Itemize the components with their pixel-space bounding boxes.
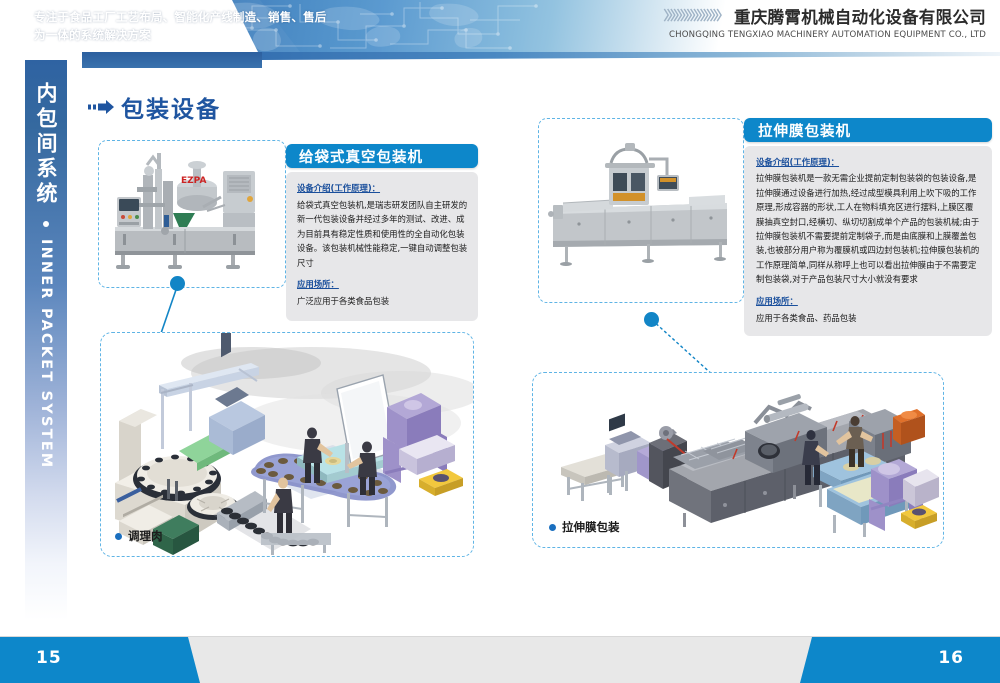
- card-subheading-intro-left: 设备介绍(工作原理)：: [297, 181, 468, 196]
- photo-box-stretch-film-machine: [538, 118, 744, 303]
- card-title-left: 给袋式真空包装机: [299, 146, 423, 167]
- diagram-label-text-left: 调理肉: [128, 528, 163, 544]
- diagram-box-prepared-meat: 调理肉: [100, 332, 474, 557]
- sidebar-title-cn: 内包间系统: [32, 82, 60, 207]
- sidebar-vertical-tab: 内包间系统 INNER PACKET SYSTEM: [25, 60, 67, 620]
- page-number-left: 15: [36, 648, 62, 668]
- page-header: 专注于食品工厂工艺布局、智能化产线制造、销售、售后 为一体的系统解决方案 〉〉〉…: [0, 0, 1000, 60]
- card-subheading-intro-right: 设备介绍(工作原理)：: [756, 155, 981, 169]
- bag-vacuum-packing-machine-photo: EZPA: [99, 141, 285, 287]
- company-name-en: CHONGQING TENGXIAO MACHINERY AUTOMATION …: [663, 30, 986, 40]
- bullet-dot-icon-left: [115, 533, 122, 540]
- connector-dot-left: [170, 276, 185, 291]
- arrow-right-icon: [88, 99, 114, 115]
- footer-left-block: [0, 637, 200, 683]
- page-footer: 15 16: [0, 633, 1000, 683]
- header-underline-tab: [82, 52, 262, 68]
- connector-dot-right: [644, 312, 659, 327]
- bullet-dot-icon-right: [549, 524, 556, 531]
- svg-text:EZPA: EZPA: [181, 176, 206, 186]
- section-title: 包装设备: [88, 90, 221, 124]
- header-tagline-line2: 为一体的系统解决方案: [34, 26, 554, 44]
- card-body-left: 设备介绍(工作原理)： 给袋式真空包装机,是瑞志研发团队自主研发的新一代包装设备…: [286, 172, 478, 321]
- info-card-bag-vacuum-machine: 给袋式真空包装机 设备介绍(工作原理)： 给袋式真空包装机,是瑞志研发团队自主研…: [286, 144, 478, 321]
- company-brand: 〉〉〉〉〉〉〉〉〉〉〉〉〉〉〉〉〉 重庆腾霄机械自动化设备有限公司 CHONGQ…: [663, 9, 986, 40]
- card-subheading-usage-right: 应用场所：: [756, 294, 981, 308]
- section-title-text: 包装设备: [121, 90, 221, 124]
- company-name-cn: 重庆腾霄机械自动化设备有限公司: [734, 9, 986, 27]
- card-text-intro-right: 拉伸膜包装机是一款无需企业提前定制包装袋的包装设备,是拉伸膜通过设备进行加热,经…: [756, 171, 981, 286]
- diagram-label-prepared-meat: 调理肉: [115, 528, 163, 544]
- footer-right-block: [800, 637, 1000, 683]
- prepared-meat-line-illustration: [101, 333, 473, 556]
- diagram-label-stretch-film: 拉伸膜包装: [549, 519, 620, 535]
- photo-box-bag-vacuum-machine: EZPA: [98, 140, 286, 288]
- sidebar-separator-dot-icon: [43, 221, 49, 227]
- header-tagline: 专注于食品工厂工艺布局、智能化产线制造、销售、售后 为一体的系统解决方案: [34, 8, 554, 44]
- diagram-box-stretch-film-packing: 拉伸膜包装: [532, 372, 944, 548]
- header-tagline-line1: 专注于食品工厂工艺布局、智能化产线制造、销售、售后: [34, 8, 554, 26]
- card-title-bar-right: 拉伸膜包装机: [744, 118, 992, 142]
- info-card-stretch-film-machine: 拉伸膜包装机 设备介绍(工作原理)： 拉伸膜包装机是一款无需企业提前定制包装袋的…: [744, 118, 992, 336]
- brochure-page: 专注于食品工厂工艺布局、智能化产线制造、销售、售后 为一体的系统解决方案 〉〉〉…: [0, 0, 1000, 683]
- page-number-right: 16: [938, 648, 964, 668]
- card-title-bar-left: 给袋式真空包装机: [286, 144, 478, 168]
- diagram-label-text-right: 拉伸膜包装: [562, 519, 620, 535]
- card-subheading-usage-left: 应用场所：: [297, 277, 468, 292]
- card-text-usage-left: 广泛应用于各类食品包装: [297, 294, 468, 309]
- card-text-intro-left: 给袋式真空包装机,是瑞志研发团队自主研发的新一代包装设备并经过多年的测试、改进、…: [297, 198, 468, 271]
- stretch-film-packing-machine-photo: [539, 119, 743, 302]
- card-body-right: 设备介绍(工作原理)： 拉伸膜包装机是一款无需企业提前定制包装袋的包装设备,是拉…: [744, 146, 992, 336]
- chevron-decoration-icon: 〉〉〉〉〉〉〉〉〉〉〉〉〉〉〉〉〉: [663, 9, 726, 25]
- sidebar-title-en: INNER PACKET SYSTEM: [38, 239, 54, 469]
- card-title-right: 拉伸膜包装机: [758, 120, 851, 141]
- footer-divider: [0, 636, 1000, 637]
